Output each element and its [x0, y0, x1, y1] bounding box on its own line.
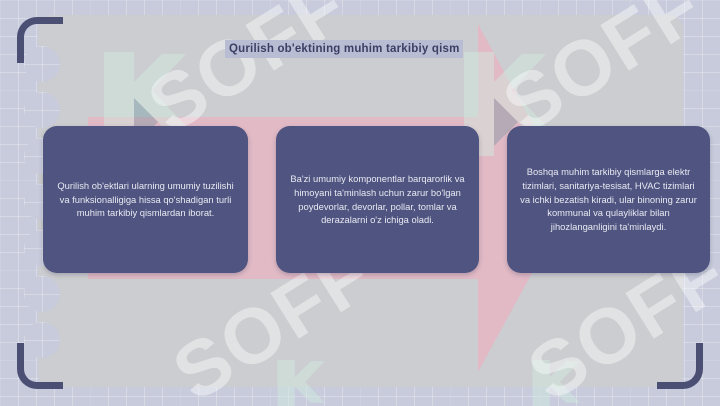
- panel-scallop-notch: [24, 92, 60, 128]
- content-box-2[interactable]: Ba'zi umumiy komponentlar barqarorlik va…: [276, 126, 479, 273]
- content-box-2-text: Ba'zi umumiy komponentlar barqarorlik va…: [288, 172, 467, 228]
- corner-bracket-bottom-left: [17, 343, 63, 389]
- content-box-3-text: Boshqa muhim tarkibiy qismlarga elektr t…: [519, 165, 698, 235]
- corner-bracket-top-left: [17, 17, 63, 63]
- corner-bracket-bottom-right: [657, 343, 703, 389]
- content-box-1-text: Qurilish ob'ektlari ularning umumiy tuzi…: [55, 179, 236, 221]
- slide-canvas: SOFF SOFF SOFF SOFF Qurilish ob'ektining…: [0, 0, 720, 406]
- content-box-1[interactable]: Qurilish ob'ektlari ularning umumiy tuzi…: [43, 126, 248, 273]
- content-box-3[interactable]: Boshqa muhim tarkibiy qismlarga elektr t…: [507, 126, 710, 273]
- panel-scallop-notch: [24, 276, 60, 312]
- slide-title: Qurilish ob'ektining muhim tarkibiy qism: [225, 40, 463, 58]
